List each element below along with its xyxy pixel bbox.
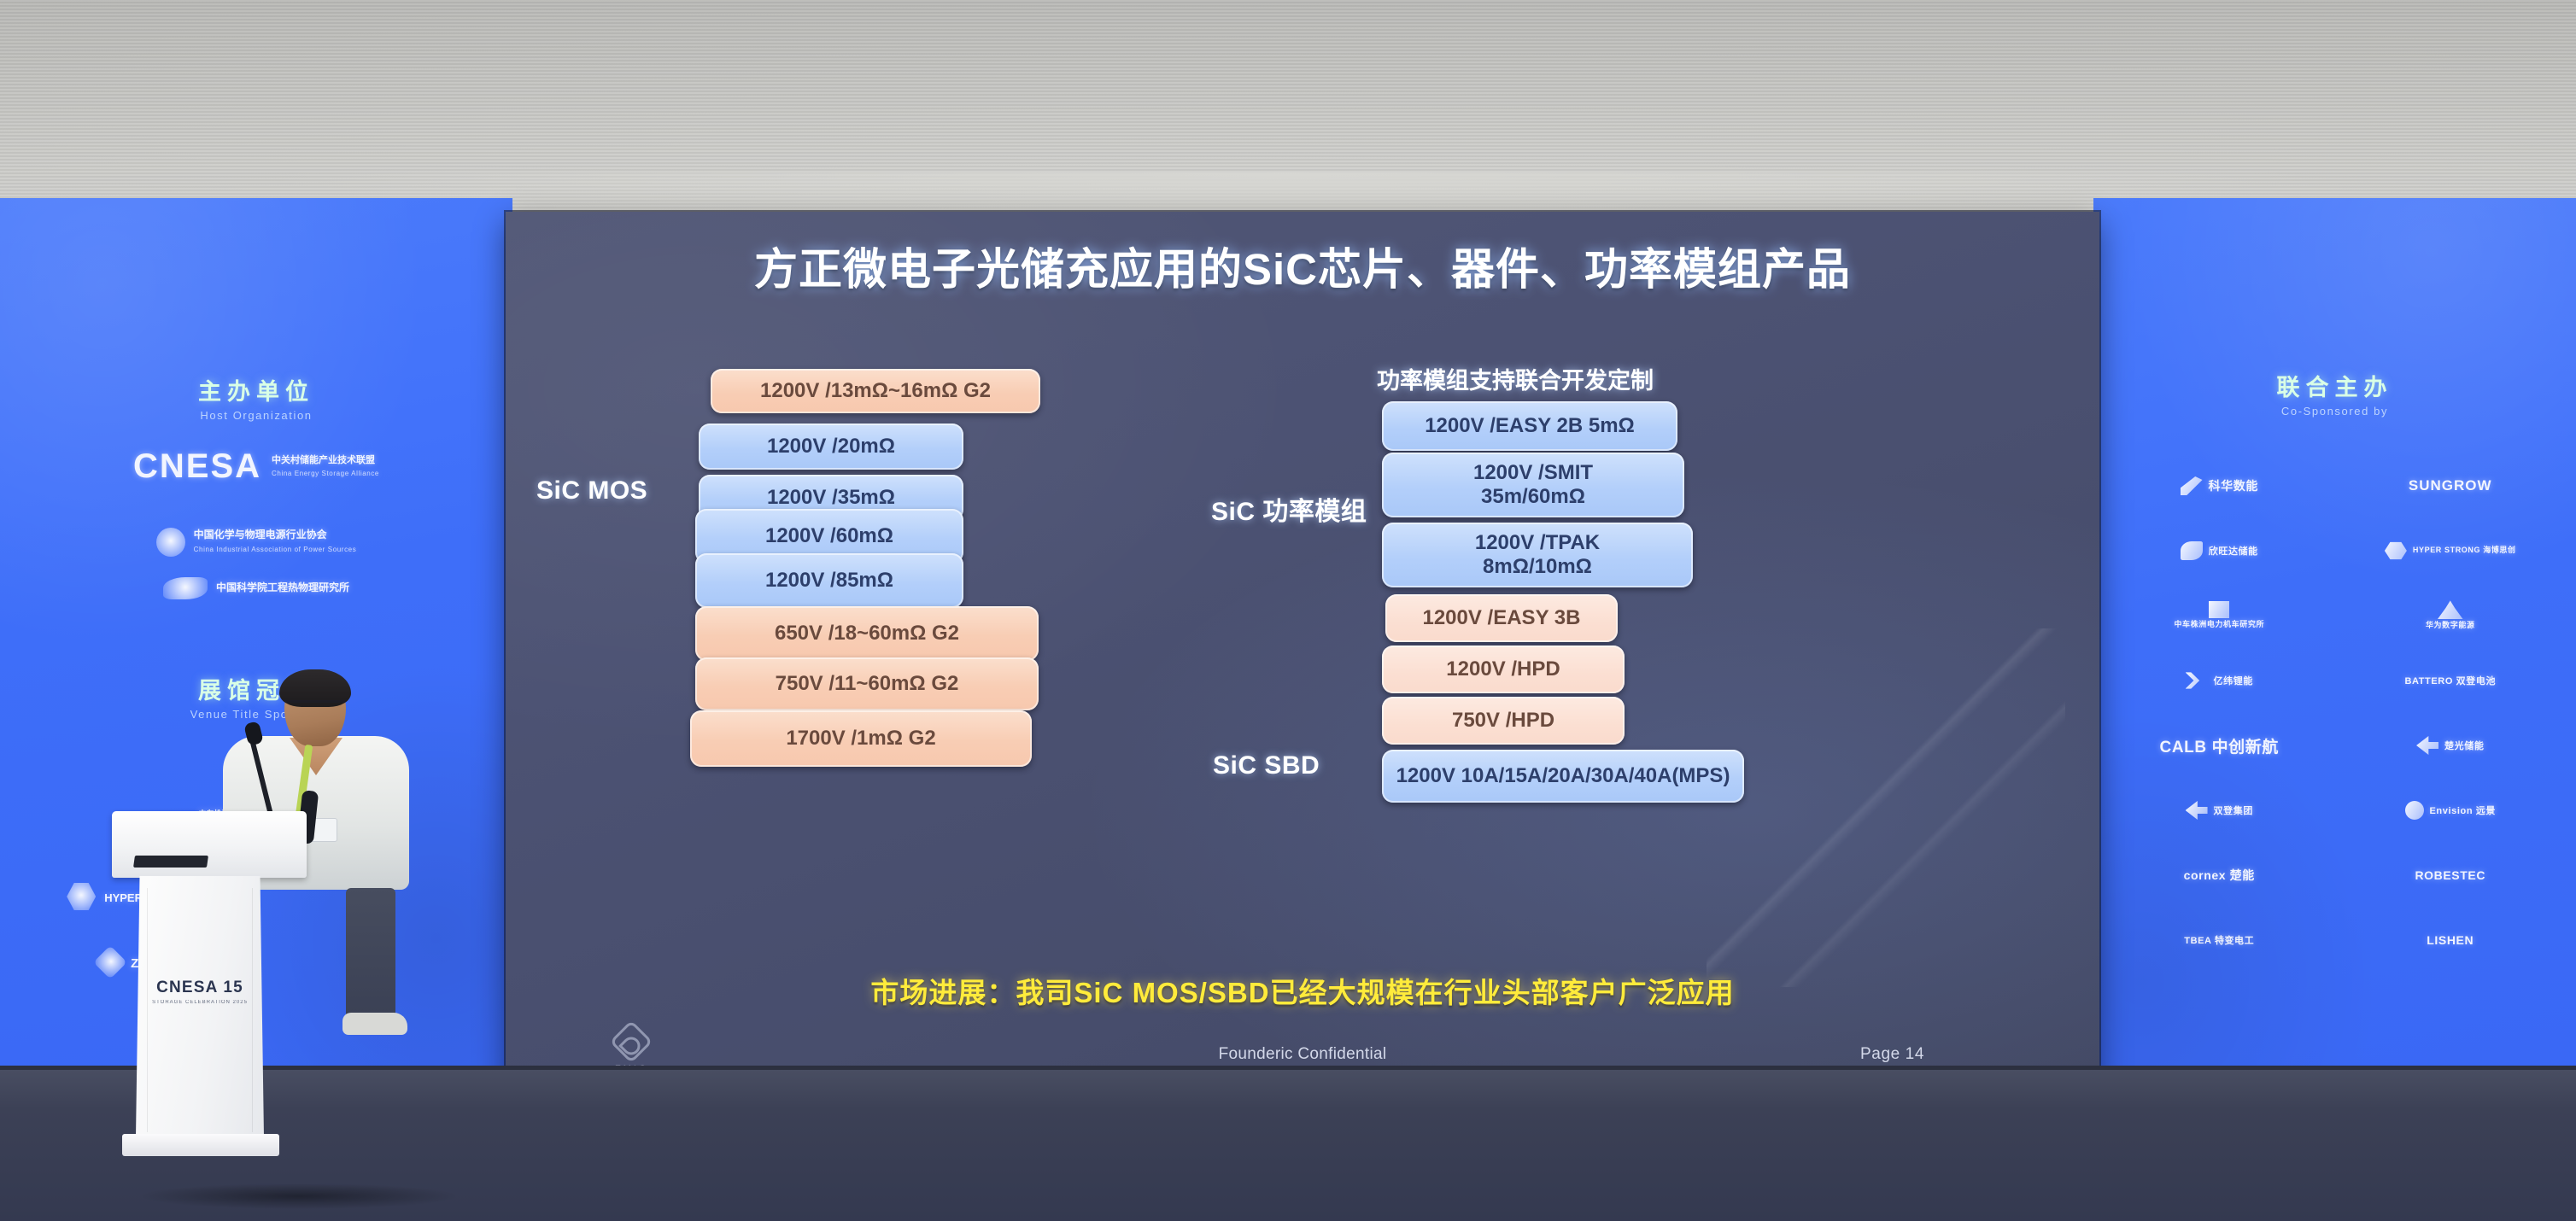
conference-stage-scene: 主办单位 Host Organization CNESA 中关村储能产业技术联盟… — [0, 0, 2576, 1221]
host-org-1-cn: 中国化学与物理电源行业协会 — [194, 529, 327, 540]
speaker-glasses-icon — [285, 700, 345, 713]
podium-logo-word: CNESA — [156, 979, 218, 996]
sponsor-logo-eve: 亿纬锂能 — [2107, 666, 2332, 695]
sponsor-logo-battero: BATTERO 双登电池 — [2339, 666, 2563, 695]
slide-decorative-chevron — [1707, 628, 2065, 987]
cnesa-chinese-name: 中关村储能产业技术联盟 China Energy Storage Allianc… — [272, 454, 379, 480]
pill-mos-7[interactable]: 750V /11~60mΩ G2 — [695, 657, 1039, 710]
sponsor-logo-envision: Envision 远景 — [2339, 796, 2563, 825]
podium-front-panel — [136, 876, 264, 1137]
pill-mos-1[interactable]: 1200V /13mΩ~16mΩ G2 — [711, 369, 1040, 413]
host-org-1-name: 中国化学与物理电源行业协会 China Industrial Associati… — [194, 529, 357, 555]
host-org-logo-2: 中国科学院工程热物理研究所 — [0, 577, 512, 599]
hyperstrong-mark-icon-2 — [2385, 541, 2407, 560]
sic-sbd-label: SiC SBD — [1213, 751, 1320, 780]
podium-laptop — [133, 856, 208, 868]
pill-mos-8[interactable]: 1700V /1mΩ G2 — [690, 710, 1032, 767]
sponsor-name-chuguang: 楚光储能 — [2444, 739, 2484, 752]
footer-page-number: Page 14 — [1860, 1045, 1924, 1064]
sponsor-name-tbea: TBEA 特变电工 — [2184, 933, 2254, 947]
podium-logo-text: CNESA 15 — [136, 979, 264, 997]
sponsor-logo-cornex: cornex 楚能 — [2107, 861, 2332, 890]
cnesa-en-line: China Energy Storage Alliance — [272, 470, 379, 477]
backdrop-right-panel: 联合主办 Co-Sponsored by 科华数能 SUNGROW 欣旺达储能 … — [2093, 198, 2576, 1069]
podium-base — [122, 1134, 279, 1156]
sponsor-name-battero: BATTERO 双登电池 — [2404, 674, 2496, 687]
wave-mark-icon — [163, 577, 208, 599]
pill-module-5[interactable]: 1200V /HPD — [1382, 646, 1625, 693]
sponsor-name-crrc: 中车株洲电力机车研究所 — [2174, 620, 2264, 629]
podium-logo-sub: STORAGE CELEBRATION 2025 — [136, 1000, 264, 1005]
envision-mark-icon — [2405, 801, 2424, 820]
kehua-mark-icon — [2181, 476, 2203, 495]
sponsor-logo-byd: 欣旺达储能 — [2107, 536, 2332, 565]
sic-mos-label: SiC MOS — [536, 476, 647, 505]
pill-module-4[interactable]: 1200V /EASY 3B — [1385, 594, 1618, 642]
chuguang-mark-icon — [2416, 736, 2438, 755]
sponsor-logo-tbea: TBEA 特变电工 — [2107, 926, 2332, 955]
sponsor-name-kehua: 科华数能 — [2209, 477, 2258, 494]
sponsor-logo-hyperstrong: HYPER STRONG 海博思创 — [2339, 536, 2563, 565]
cnesa-logo: CNESA 中关村储能产业技术联盟 China Energy Storage A… — [0, 447, 512, 486]
host-org-2-name: 中国科学院工程热物理研究所 — [216, 581, 349, 595]
eve-mark-icon — [2186, 671, 2208, 690]
slide-title: 方正微电子光储充应用的SiC芯片、器件、功率模组产品 — [506, 234, 2099, 297]
lotus-mark-icon — [156, 528, 185, 557]
crrc-mark-icon-2 — [2209, 601, 2229, 618]
sponsor-logo-shuangdeng: 双登集团 — [2107, 796, 2332, 825]
sponsor-logo-chuguang: 楚光储能 — [2339, 731, 2563, 760]
huawei-mark-icon — [2438, 600, 2463, 619]
sponsor-logo-huawei: 华为数字能源 — [2339, 601, 2563, 630]
sponsor-logo-calb: CALB 中创新航 — [2107, 731, 2332, 760]
pill-module-2[interactable]: 1200V /SMIT 35m/60mΩ — [1382, 453, 1684, 517]
cosponsor-heading: 联合主办 Co-Sponsored by — [2093, 369, 2576, 418]
cosponsor-logo-grid: 科华数能 SUNGROW 欣旺达储能 HYPER STRONG 海博思创 中车株… — [2107, 471, 2562, 955]
sponsor-name-shuangdeng: 双登集团 — [2214, 803, 2253, 817]
pill-mos-5[interactable]: 1200V /85mΩ — [695, 553, 963, 608]
market-progress-text: 市场进展：我司SiC MOS/SBD已经大规模在行业头部客户广泛应用 — [506, 970, 2099, 1011]
sponsor-logo-lishen: LISHEN — [2339, 926, 2563, 955]
sponsor-name-envision: Envision 远景 — [2430, 803, 2497, 817]
host-org-logo-1: 中国化学与物理电源行业协会 China Industrial Associati… — [0, 528, 512, 557]
shuangdeng-mark-icon — [2186, 801, 2208, 820]
podium-logo-number: 15 — [223, 979, 243, 996]
pill-module-6[interactable]: 750V /HPD — [1382, 697, 1625, 745]
pill-module-1[interactable]: 1200V /EASY 2B 5mΩ — [1382, 401, 1677, 451]
sponsor-name-lishen: LISHEN — [2427, 933, 2474, 947]
sponsor-name-cornex: cornex 楚能 — [2184, 867, 2255, 884]
sponsor-name-hyperstrong: HYPER STRONG 海博思创 — [2413, 546, 2516, 555]
sponsor-name-calb: CALB 中创新航 — [2160, 734, 2279, 757]
byd-mark-icon — [2181, 541, 2203, 560]
speaker-shoe — [342, 1013, 407, 1035]
sponsor-name-huawei: 华为数字能源 — [2426, 621, 2475, 630]
pill-module-3[interactable]: 1200V /TPAK 8mΩ/10mΩ — [1382, 523, 1693, 587]
host-organization-en: Host Organization — [0, 409, 512, 422]
cosponsor-cn: 联合主办 — [2093, 369, 2576, 402]
sponsor-logo-robestec: ROBESTEC — [2339, 861, 2563, 890]
cosponsor-en: Co-Sponsored by — [2093, 405, 2576, 418]
pill-mos-2[interactable]: 1200V /20mΩ — [699, 424, 963, 470]
host-organization-cn: 主办单位 — [0, 373, 512, 406]
sic-power-module-label: SiC 功率模组 — [1211, 490, 1367, 528]
podium-top-surface — [112, 811, 307, 878]
venue-ceiling — [0, 0, 2576, 215]
presentation-slide-screen: 方正微电子光储充应用的SiC芯片、器件、功率模组产品 SiC MOS 1200V… — [506, 212, 2099, 1090]
pill-sbd-1[interactable]: 1200V 10A/15A/20A/30A/40A(MPS) — [1382, 750, 1744, 803]
hyperstrong-mark-icon — [67, 882, 96, 911]
lectern-podium: CNESA 15 STORAGE CELEBRATION 2025 — [115, 811, 303, 1170]
speaker-leg — [346, 888, 395, 1025]
sponsor-name-robestec: ROBESTEC — [2415, 868, 2485, 882]
sponsor-name-byd: 欣旺达储能 — [2209, 544, 2258, 558]
host-organization-heading: 主办单位 Host Organization — [0, 373, 512, 422]
pill-mos-6[interactable]: 650V /18~60mΩ G2 — [695, 606, 1039, 661]
sponsor-logo-kehua: 科华数能 — [2107, 471, 2332, 500]
podium-floor-shadow — [77, 1178, 521, 1214]
cnesa-cn-line: 中关村储能产业技术联盟 — [272, 455, 375, 465]
sponsor-logo-crrc: 中车株洲电力机车研究所 — [2107, 601, 2332, 630]
podium-logo: CNESA 15 STORAGE CELEBRATION 2025 — [136, 979, 264, 1005]
cnesa-wordmark: CNESA — [133, 447, 261, 486]
module-custom-heading: 功率模组支持联合开发定制 — [1377, 362, 1654, 395]
sponsor-name-eve: 亿纬锂能 — [2214, 674, 2253, 687]
sponsor-name-sungrow: SUNGROW — [2409, 477, 2492, 494]
sponsor-logo-sungrow: SUNGROW — [2339, 471, 2563, 500]
host-org-1-en: China Industrial Association of Power So… — [194, 546, 357, 553]
